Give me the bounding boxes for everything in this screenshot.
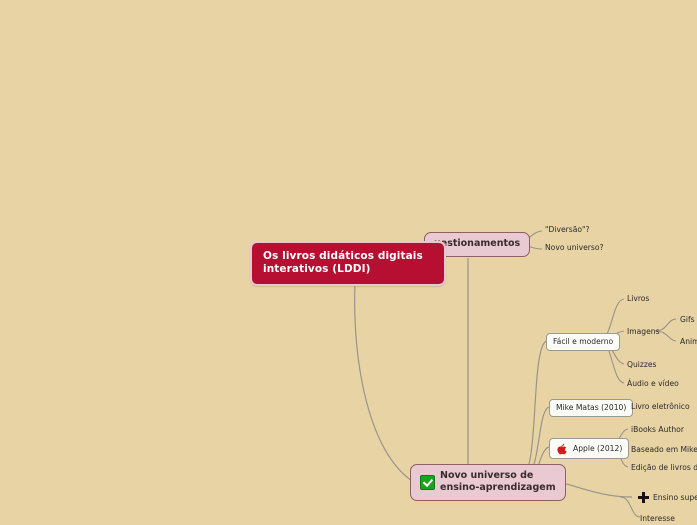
mindmap-canvas[interactable]: uestionamentos Os livros didáticos digit… (0, 0, 697, 520)
node-animacoes-label: Anima (680, 337, 697, 347)
node-livro-eletronico[interactable]: Livro eletrônico (629, 401, 692, 413)
check-icon (420, 475, 435, 490)
node-novo-universo-question[interactable]: Novo universo? (543, 242, 606, 254)
node-audio-e-video[interactable]: Áudio e vídeo (625, 378, 681, 390)
node-baseado-em-mike[interactable]: Baseado em Mike (629, 444, 697, 456)
node-animacoes[interactable]: Anima (678, 336, 697, 348)
apple-icon (556, 442, 569, 455)
node-root-label-line1: Os livros didáticos digitais (263, 250, 423, 262)
node-quizzes[interactable]: Quizzes (625, 359, 659, 371)
node-livros[interactable]: Livros (625, 293, 651, 305)
plus-icon (638, 492, 649, 503)
node-mike-matas[interactable]: Mike Matas (2010) (549, 399, 633, 417)
node-baseado-em-mike-label: Baseado em Mike (631, 445, 697, 455)
node-ensino-superior-label: Ensino superior (653, 493, 697, 503)
node-facil-e-moderno-label: Fácil e moderno (553, 337, 613, 347)
node-diversao-label: "Diversão"? (545, 225, 590, 235)
node-gifs[interactable]: Gifs (678, 314, 697, 326)
node-novo-universo-label-line2: ensino-aprendizagem (440, 482, 556, 494)
node-imagens[interactable]: Imagens (625, 326, 662, 338)
node-facil-e-moderno[interactable]: Fácil e moderno (546, 333, 620, 351)
node-apple[interactable]: Apple (2012) (549, 438, 629, 459)
node-interesse-label: Interesse (640, 514, 675, 524)
node-ibooks-author[interactable]: iBooks Author (629, 424, 686, 436)
node-mike-matas-label: Mike Matas (2010) (556, 403, 626, 413)
node-novo-universo-label-line1: Novo universo de (440, 470, 533, 481)
node-gifs-label: Gifs (680, 315, 695, 325)
node-edicao-livros-digitais-label: Edição de livros digitai (631, 463, 697, 473)
node-questionamentos-label: uestionamentos (434, 238, 520, 250)
node-ensino-superior[interactable]: Ensino superior (636, 491, 697, 504)
node-diversao[interactable]: "Diversão"? (543, 224, 592, 236)
node-audio-e-video-label: Áudio e vídeo (627, 379, 679, 389)
node-interesse[interactable]: Interesse (638, 513, 677, 525)
node-livro-eletronico-label: Livro eletrônico (631, 402, 690, 412)
node-root-label-line2: interativos (LDDI) (263, 263, 433, 276)
node-novo-universo-question-label: Novo universo? (545, 243, 604, 253)
node-edicao-livros-digitais[interactable]: Edição de livros digitai (629, 462, 697, 474)
node-imagens-label: Imagens (627, 327, 660, 337)
node-ibooks-author-label: iBooks Author (631, 425, 684, 435)
node-livros-label: Livros (627, 294, 649, 304)
node-root[interactable]: Os livros didáticos digitais interativos… (250, 241, 446, 286)
node-apple-label: Apple (2012) (573, 444, 622, 454)
node-quizzes-label: Quizzes (627, 360, 657, 370)
node-novo-universo[interactable]: Novo universo de ensino-aprendizagem (410, 464, 566, 501)
